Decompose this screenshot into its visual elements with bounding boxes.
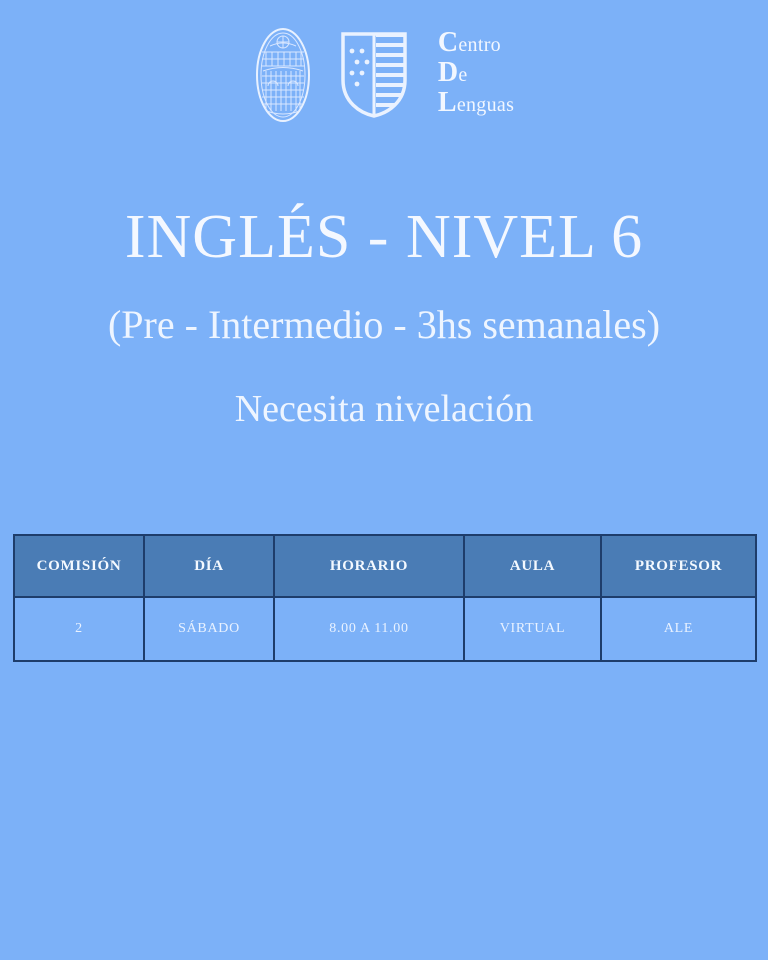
schedule-table: COMISIÓN DÍA HORARIO AULA PROFESOR 2 SÁB… (13, 534, 757, 662)
shield-crest-icon (338, 29, 410, 121)
column-header-aula: AULA (464, 535, 601, 597)
column-header-comision: COMISIÓN (14, 535, 144, 597)
brand-name: Centro De Lenguas (438, 28, 514, 122)
table-header-row: COMISIÓN DÍA HORARIO AULA PROFESOR (14, 535, 756, 597)
brand-rest-lenguas: enguas (457, 94, 514, 116)
title-block: INGLÉS - NIVEL 6 (Pre - Intermedio - 3hs… (0, 198, 768, 434)
brand-line-lenguas: Lenguas (438, 89, 514, 119)
cell-horario: 8.00 A 11.00 (274, 597, 464, 661)
table-row: 2 SÁBADO 8.00 A 11.00 VIRTUAL ALE (14, 597, 756, 661)
column-header-profesor: PROFESOR (601, 535, 756, 597)
brand-initial-l: L (438, 87, 457, 118)
brand-line-centro: Centro (438, 29, 514, 59)
brand-initial-d: D (438, 57, 459, 88)
course-subtitle: (Pre - Intermedio - 3hs semanales) (0, 298, 768, 352)
column-header-dia: DÍA (144, 535, 274, 597)
cell-dia: SÁBADO (144, 597, 274, 661)
logo-header: Centro De Lenguas (0, 22, 768, 127)
cell-profesor: ALE (601, 597, 756, 661)
cell-aula: VIRTUAL (464, 597, 601, 661)
brand-rest-centro: entro (458, 34, 501, 56)
brand-line-de: De (438, 59, 514, 89)
brand-rest-de: e (458, 64, 467, 86)
cell-comision: 2 (14, 597, 144, 661)
university-seal-icon (254, 26, 312, 124)
placement-note: Necesita nivelación (0, 384, 768, 434)
page-title: INGLÉS - NIVEL 6 (0, 198, 768, 276)
column-header-horario: HORARIO (274, 535, 464, 597)
brand-initial-c: C (438, 27, 459, 58)
